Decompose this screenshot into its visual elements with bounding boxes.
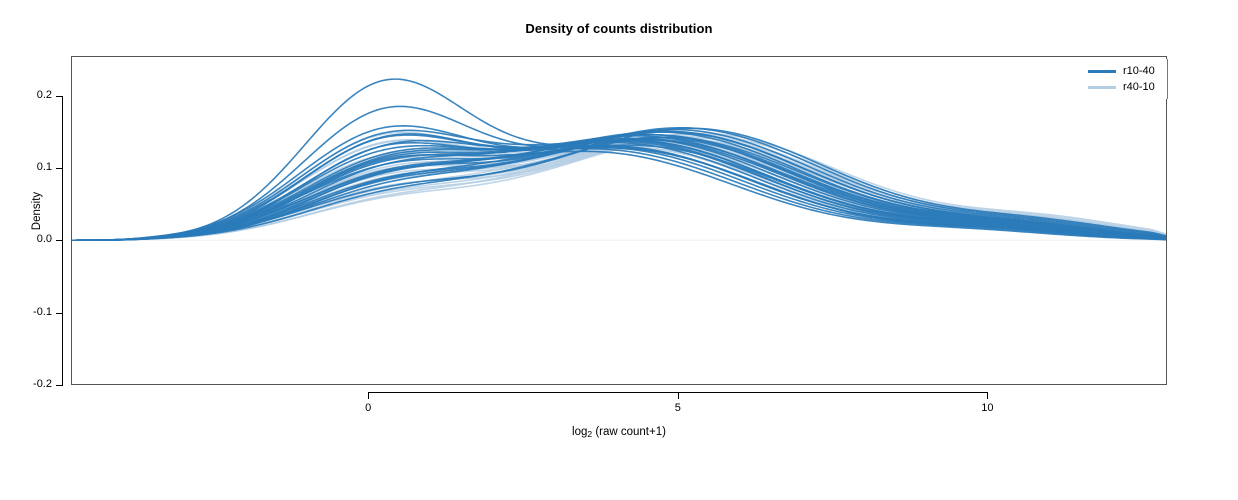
legend-label-r40-10: r40-10 [1123, 82, 1155, 93]
y-tick-label: 0.2 [8, 89, 52, 101]
density-plot-figure: Density of counts distribution 0.20.10.0… [0, 0, 1238, 500]
y-tick-mark [56, 96, 63, 97]
x-tick-label: 5 [658, 402, 698, 414]
x-axis-label: log2 (raw count+1) [0, 426, 1238, 439]
x-axis-label-prefix: log [572, 426, 587, 438]
legend[interactable]: r10-40 r40-10 [1084, 59, 1168, 99]
chart-title: Density of counts distribution [0, 21, 1238, 36]
x-tick-label: 0 [348, 402, 388, 414]
density-curves-canvas [72, 57, 1166, 384]
legend-swatch-r10-40 [1088, 70, 1116, 73]
x-tick-mark [678, 392, 679, 399]
y-tick-mark [56, 313, 63, 314]
legend-swatch-r40-10 [1088, 86, 1116, 89]
x-tick-mark [368, 392, 369, 399]
x-tick-label: 10 [967, 402, 1007, 414]
y-tick-label: -0.2 [8, 378, 52, 390]
density-series-r10-40 [72, 79, 1166, 240]
legend-entry-r10-40[interactable]: r10-40 [1088, 63, 1155, 79]
y-axis-label: Density [31, 166, 43, 256]
y-tick-label: -0.1 [8, 306, 52, 318]
y-tick-label: 0.1 [8, 161, 52, 173]
plot-area [71, 56, 1167, 385]
y-tick-label: 0.0 [8, 233, 52, 245]
legend-label-r10-40: r10-40 [1123, 66, 1155, 77]
x-axis-label-rest: (raw count+1) [592, 426, 666, 438]
y-tick-mark [56, 385, 63, 386]
x-tick-mark [987, 392, 988, 399]
legend-entry-r40-10[interactable]: r40-10 [1088, 79, 1155, 95]
y-tick-mark [56, 168, 63, 169]
y-tick-mark [56, 240, 63, 241]
